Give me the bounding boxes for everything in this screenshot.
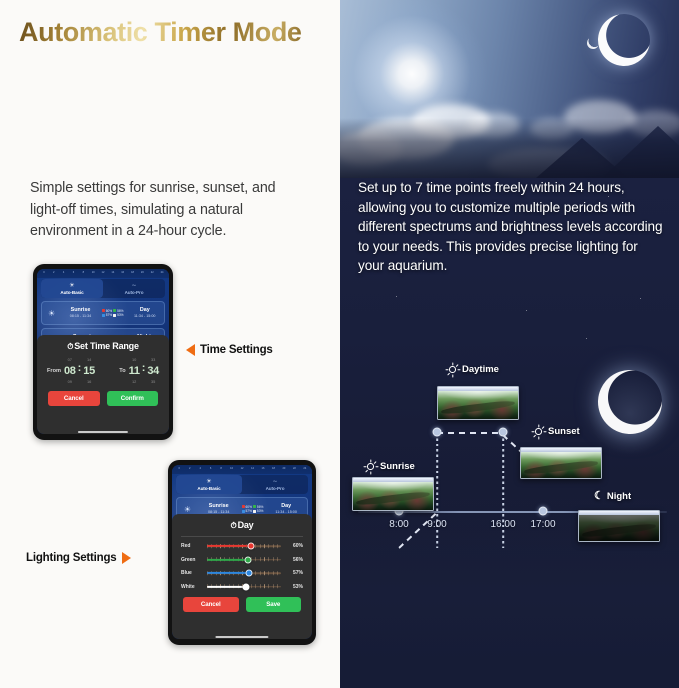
sun-icon: ☀: [69, 283, 74, 289]
ruler-mark: 8: [216, 468, 226, 471]
aquarium-thumbnail-sunrise: [352, 477, 434, 511]
sheet-title: Set Time Range: [74, 341, 139, 351]
ruler-mark: 16: [118, 272, 128, 275]
sheet-title: Day: [238, 520, 254, 530]
period-day: Day 11:34 - 15:00: [126, 307, 164, 319]
aquarium-thumbnail-daytime: [437, 386, 519, 420]
clock-icon: ⏱: [231, 521, 237, 530]
ruler-mark: 20: [137, 272, 147, 275]
ruler-mark: 12: [98, 272, 108, 275]
save-button[interactable]: Save: [246, 597, 302, 612]
right-description: Set up to 7 time points freely within 24…: [358, 178, 663, 276]
sheet-buttons: Cancel Save: [179, 597, 305, 612]
stage-label-night: ☾ Night: [594, 491, 631, 502]
slider-row-white[interactable]: White 53%: [179, 583, 305, 591]
time-colon: :: [78, 362, 82, 381]
ruler-mark: 4: [59, 272, 69, 275]
divider: [181, 536, 303, 537]
phone-mockup-lighting-settings: 0 2 4 6 8 10 12 14 16 18 20 22 24 ☀: [168, 460, 316, 645]
hour-ruler: 0 2 4 6 8 10 12 14 16 18 20 22 24: [172, 465, 312, 474]
ruler-mark: 14: [108, 272, 118, 275]
from-label: From: [47, 368, 61, 374]
channel-chip: 56%: [113, 309, 123, 313]
wheel-selected: 34: [147, 363, 159, 380]
from-hour-wheel[interactable]: 07 08 09: [64, 357, 76, 385]
period-sunrise: Sunrise 08:15 - 11:34: [61, 307, 99, 319]
aquarium-thumbnail-night: [578, 510, 660, 542]
ruler-mark: 10: [88, 272, 98, 275]
tab-auto-basic[interactable]: ☀ Auto-Basic: [176, 475, 242, 494]
aquarium-thumbnail-sunset: [520, 447, 602, 479]
period-name: Day: [265, 503, 307, 510]
time-range-sheet: ⏱Set Time Range From 07 08 09 :: [37, 335, 169, 434]
callout-lighting-settings: Lighting Settings: [26, 552, 131, 564]
time-picker-to[interactable]: To 10 11 12 : 33 34: [119, 357, 159, 385]
slider-value: 53%: [285, 584, 303, 590]
to-label: To: [119, 368, 125, 374]
ruler-mark: 24: [300, 468, 310, 471]
slider-fill: [207, 585, 246, 587]
channel-value: 60%: [246, 505, 252, 509]
cancel-button[interactable]: Cancel: [48, 391, 100, 406]
crescent-moon-icon: [591, 7, 657, 73]
mode-tabs: ☀ Auto-Basic ∼ Auto-Pro: [176, 475, 308, 494]
slider-row-green[interactable]: Green 56%: [179, 556, 305, 564]
slider-fill: [207, 558, 248, 560]
time-picker-row: From 07 08 09 : 14 15: [44, 357, 162, 385]
channel-chip: 60%: [102, 309, 112, 313]
wheel-next: 09: [68, 379, 72, 385]
wheel-next: 12: [132, 379, 136, 385]
axis-tick-label: 17:00: [530, 519, 555, 530]
ruler-mark: 22: [289, 468, 299, 471]
channel-chip: 53%: [113, 313, 123, 317]
page-root: Automatic Timer Mode Simple settings for…: [0, 0, 679, 688]
slider-knob[interactable]: [245, 556, 252, 563]
tank-image: [521, 452, 601, 479]
slider-row-blue[interactable]: Blue 57%: [179, 569, 305, 577]
confirm-button[interactable]: Confirm: [107, 391, 159, 406]
sun-icon: [446, 363, 459, 376]
slider-value: 56%: [285, 557, 303, 563]
tab-auto-pro-label: Auto-Pro: [125, 290, 144, 295]
channel-value: 53%: [257, 509, 263, 513]
chart-dotline-9: [436, 433, 438, 548]
sheet-title-row: ⏱Day: [179, 520, 305, 531]
ruler-mark: 18: [128, 272, 138, 275]
slider-track-white[interactable]: [207, 583, 281, 591]
ruler-mark: 12: [237, 468, 247, 471]
sun-icon: ☀: [206, 479, 211, 485]
lighting-sheet: ⏱Day Red 60% Green: [172, 514, 312, 639]
slider-label: Green: [181, 557, 203, 563]
ruler-mark: 22: [147, 272, 157, 275]
left-panel: Automatic Timer Mode Simple settings for…: [0, 0, 340, 688]
from-wheels[interactable]: 07 08 09 : 14 15 16: [64, 357, 95, 385]
channel-value: 56%: [257, 505, 263, 509]
moon-icon: ☾: [594, 491, 604, 502]
chart-dotline-16: [502, 433, 504, 548]
wheel-selected: 08: [64, 363, 76, 380]
slider-label: Red: [181, 543, 203, 549]
stage-label-daytime: Daytime: [446, 363, 499, 376]
channel-chip: 57%: [102, 313, 112, 317]
triangle-right-icon: [122, 552, 131, 564]
right-panel: Set up to 7 time points freely within 24…: [340, 0, 679, 688]
ruler-mark: 20: [279, 468, 289, 471]
tank-image: [438, 391, 518, 420]
app-screen-time: 0 2 4 6 8 10 12 14 16 18 20 22 24 ☀: [37, 269, 169, 434]
to-hour-wheel[interactable]: 10 11 12: [129, 357, 140, 385]
tank-image: [353, 482, 433, 511]
ruler-mark: 6: [69, 272, 79, 275]
slider-knob[interactable]: [243, 583, 250, 590]
channel-value: 56%: [117, 309, 123, 313]
chart-node[interactable]: [539, 507, 548, 516]
wheel-selected: 11: [129, 363, 140, 380]
slider-fill: [207, 572, 249, 574]
tab-auto-pro-label: Auto-Pro: [266, 486, 285, 491]
period-name: Sunrise: [198, 503, 240, 510]
axis-tick-label: 16:00: [490, 519, 515, 530]
to-wheels[interactable]: 10 11 12 : 33 34 35: [129, 357, 159, 385]
slider-label: White: [181, 584, 203, 590]
callout-lighting-label: Lighting Settings: [26, 552, 117, 564]
home-indicator: [78, 431, 128, 433]
channel-chip: 53%: [253, 509, 263, 513]
left-description: Simple settings for sunrise, sunset, and…: [30, 178, 308, 243]
to-minute-wheel[interactable]: 33 34 35: [147, 357, 159, 385]
ruler-mark: 0: [174, 468, 184, 471]
app-screen-lighting: 0 2 4 6 8 10 12 14 16 18 20 22 24 ☀: [172, 465, 312, 639]
ruler-mark: 14: [247, 468, 257, 471]
callout-time-settings: Time Settings: [186, 344, 273, 356]
triangle-left-icon: [186, 344, 195, 356]
tab-auto-pro[interactable]: ∼ Auto-Pro: [242, 475, 308, 494]
channel-value: 60%: [106, 309, 112, 313]
page-title: Automatic Timer Mode: [19, 17, 302, 48]
slider-knob[interactable]: [246, 570, 253, 577]
cancel-button[interactable]: Cancel: [183, 597, 239, 612]
ruler-mark: 2: [184, 468, 194, 471]
sunrise-icon: ☀: [177, 505, 198, 514]
period-channel-chips: 60% 56% 57% 53%: [240, 505, 266, 514]
period-time: 11:34 - 15:00: [126, 314, 164, 319]
tab-auto-basic[interactable]: ☀ Auto-Basic: [41, 279, 103, 298]
wheel-selected: 15: [83, 363, 95, 380]
period-card-sunrise[interactable]: ☀ Sunrise 08:15 - 11:34 60% 56% 57% 53% …: [41, 301, 165, 325]
slider-track-red[interactable]: [207, 542, 281, 550]
slider-label: Blue: [181, 570, 203, 576]
time-picker-from[interactable]: From 07 08 09 : 14 15: [47, 357, 95, 385]
stage-label-text: Sunset: [548, 426, 580, 437]
mountain-silhouette: [340, 118, 679, 178]
channel-chip: 56%: [253, 505, 263, 509]
axis-tick-label: 8:00: [389, 519, 408, 530]
slider-track-blue[interactable]: [207, 569, 281, 577]
slider-value: 60%: [285, 543, 303, 549]
chart-node[interactable]: [499, 428, 508, 437]
chart-segment-plateau: [437, 432, 503, 434]
stage-label-sunset: Sunset: [532, 425, 580, 438]
ruler-mark: 2: [49, 272, 59, 275]
callout-time-label: Time Settings: [200, 344, 273, 356]
schedule-chart: 8:00 9:00 16:00 17:00 Sunrise: [340, 355, 679, 585]
sun-icon: [532, 425, 545, 438]
axis-tick-label: 9:00: [427, 519, 446, 530]
time-colon: :: [142, 362, 146, 381]
tank-image: [579, 515, 659, 542]
sheet-buttons: Cancel Confirm: [44, 391, 162, 406]
ruler-mark: 24: [157, 272, 167, 275]
tab-auto-basic-label: Auto-Basic: [197, 486, 220, 491]
slider-fill: [207, 545, 251, 547]
ruler-mark: 6: [205, 468, 215, 471]
phone-mockup-time-settings: 0 2 4 6 8 10 12 14 16 18 20 22 24 ☀: [33, 264, 173, 440]
clock-icon: ⏱: [67, 342, 73, 351]
channel-chip: 60%: [242, 505, 252, 509]
period-time: 08:15 - 11:34: [61, 314, 99, 319]
from-minute-wheel[interactable]: 14 15 16: [83, 357, 95, 385]
stage-label-text: Daytime: [462, 364, 499, 375]
home-indicator: [215, 636, 268, 638]
channel-value: 57%: [246, 509, 252, 513]
wheel-next: 35: [151, 379, 155, 385]
stage-label-text: Sunrise: [380, 461, 415, 472]
channel-value: 53%: [117, 313, 123, 317]
hour-ruler: 0 2 4 6 8 10 12 14 16 18 20 22 24: [37, 269, 169, 278]
period-channel-chips: 60% 56% 57% 53%: [100, 309, 126, 318]
ruler-mark: 18: [268, 468, 278, 471]
chart-segment-rise: [398, 512, 437, 549]
wave-icon: ∼: [272, 479, 277, 485]
ruler-mark: 8: [78, 272, 88, 275]
tab-auto-basic-label: Auto-Basic: [60, 290, 83, 295]
slider-knob[interactable]: [248, 543, 255, 550]
slider-track-green[interactable]: [207, 556, 281, 564]
wave-icon: ∼: [131, 283, 136, 289]
slider-row-red[interactable]: Red 60%: [179, 542, 305, 550]
sheet-title-row: ⏱Set Time Range: [44, 341, 162, 352]
stage-label-sunrise: Sunrise: [364, 460, 415, 473]
sun-icon: [364, 460, 377, 473]
channel-chip: 57%: [242, 509, 252, 513]
channel-value: 57%: [106, 313, 112, 317]
mode-tabs: ☀ Auto-Basic ∼ Auto-Pro: [41, 279, 165, 298]
ruler-mark: 16: [258, 468, 268, 471]
slider-value: 57%: [285, 570, 303, 576]
sky-photo: [340, 0, 679, 178]
sunrise-icon: ☀: [42, 309, 61, 318]
chart-node[interactable]: [433, 428, 442, 437]
wheel-next: 16: [87, 379, 91, 385]
period-name: Day: [126, 307, 164, 314]
ruler-mark: 4: [195, 468, 205, 471]
stage-label-text: Night: [607, 491, 631, 502]
ruler-mark: 0: [39, 272, 49, 275]
period-name: Sunrise: [61, 307, 99, 314]
tab-auto-pro[interactable]: ∼ Auto-Pro: [103, 279, 165, 298]
ruler-mark: 10: [226, 468, 236, 471]
